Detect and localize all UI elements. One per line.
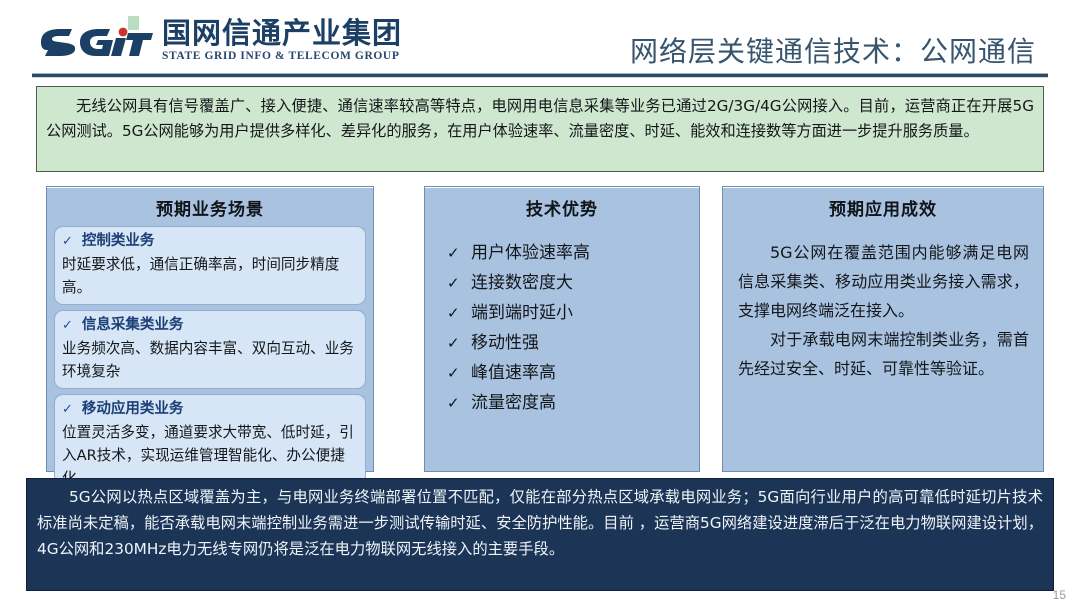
advantage-label: 端到端时延小	[471, 298, 573, 328]
scenario-card-body: 业务频次高、数据内容丰富、双向互动、业务环境复杂	[62, 337, 358, 383]
list-item[interactable]: ✓ 连接数密度大	[447, 268, 699, 298]
check-icon: ✓	[447, 388, 471, 418]
advantage-label: 流量密度高	[471, 388, 556, 418]
scenario-card-head: ✓控制类业务	[62, 230, 358, 253]
panel-title-outcomes: 预期应用成效	[723, 187, 1043, 220]
check-icon: ✓	[62, 318, 73, 333]
panel-technical-advantages: 技术优势 ✓ 用户体验速率高 ✓ 连接数密度大 ✓ 端到端时延小 ✓ 移动性强 …	[424, 186, 700, 472]
intro-summary-box: 无线公网具有信号覆盖广、接入便捷、通信速率较高等特点，电网用电信息采集等业务已通…	[36, 86, 1044, 172]
left-edge-margin	[0, 0, 5, 608]
check-icon: ✓	[447, 358, 471, 388]
advantage-label: 连接数密度大	[471, 268, 573, 298]
check-icon: ✓	[447, 238, 471, 268]
footer-conclusion-box: 5G公网以热点区域覆盖为主，与电网业务终端部署位置不匹配，仅能在部分热点区域承载…	[26, 478, 1054, 591]
sgit-logo-icon	[36, 16, 154, 60]
list-item[interactable]: ✓ 流量密度高	[447, 388, 699, 418]
check-icon: ✓	[447, 298, 471, 328]
check-icon: ✓	[62, 234, 73, 249]
intro-summary-text: 无线公网具有信号覆盖广、接入便捷、通信速率较高等特点，电网用电信息采集等业务已通…	[46, 94, 1034, 144]
panel-expected-scenarios: 预期业务场景 ✓控制类业务 时延要求低，通信正确率高，时间同步精度高。 ✓信息采…	[46, 186, 374, 472]
list-item[interactable]: ✓控制类业务 时延要求低，通信正确率高，时间同步精度高。	[54, 226, 366, 305]
scenario-card-title: 控制类业务	[82, 233, 155, 249]
company-logo: 国网信通产业集团 STATE GRID INFO & TELECOM GROUP	[36, 16, 402, 62]
list-item[interactable]: ✓ 用户体验速率高	[447, 238, 699, 268]
scenario-card-title: 信息采集类业务	[82, 317, 184, 333]
header-divider	[32, 73, 1048, 78]
scenario-card-head: ✓信息采集类业务	[62, 314, 358, 337]
scenario-card-title: 移动应用类业务	[82, 401, 184, 417]
scenario-card-head: ✓移动应用类业务	[62, 398, 358, 421]
list-item[interactable]: ✓信息采集类业务 业务频次高、数据内容丰富、双向互动、业务环境复杂	[54, 310, 366, 389]
check-icon: ✓	[447, 268, 471, 298]
outcome-paragraph-list: 5G公网在覆盖范围内能够满足电网信息采集类、移动应用类业务接入需求，支撑电网终端…	[723, 220, 1043, 383]
advantage-label: 移动性强	[471, 328, 539, 358]
panel-expected-outcomes: 预期应用成效 5G公网在覆盖范围内能够满足电网信息采集类、移动应用类业务接入需求…	[722, 186, 1044, 472]
logo-wordmark: 国网信通产业集团 STATE GRID INFO & TELECOM GROUP	[162, 16, 402, 62]
scenario-card-body: 时延要求低，通信正确率高，时间同步精度高。	[62, 253, 358, 299]
advantage-label: 峰值速率高	[471, 358, 556, 388]
outcome-paragraph: 5G公网在覆盖范围内能够满足电网信息采集类、移动应用类业务接入需求，支撑电网终端…	[738, 238, 1029, 325]
panel-title-scenarios: 预期业务场景	[47, 187, 373, 220]
company-name-cn: 国网信通产业集团	[162, 18, 402, 49]
page-number: 15	[1053, 588, 1066, 602]
scenario-card-list: ✓控制类业务 时延要求低，通信正确率高，时间同步精度高。 ✓信息采集类业务 业务…	[47, 220, 373, 496]
outcome-paragraph: 对于承载电网末端控制类业务，需首先经过安全、时延、可靠性等验证。	[738, 325, 1029, 383]
check-icon: ✓	[62, 402, 73, 417]
company-name-en: STATE GRID INFO & TELECOM GROUP	[162, 50, 402, 62]
advantage-label: 用户体验速率高	[471, 238, 590, 268]
list-item[interactable]: ✓ 峰值速率高	[447, 358, 699, 388]
slide: 国网信通产业集团 STATE GRID INFO & TELECOM GROUP…	[0, 0, 1080, 608]
slide-header: 国网信通产业集团 STATE GRID INFO & TELECOM GROUP…	[0, 0, 1080, 76]
advantage-list: ✓ 用户体验速率高 ✓ 连接数密度大 ✓ 端到端时延小 ✓ 移动性强 ✓ 峰值速…	[425, 220, 699, 418]
check-icon: ✓	[447, 328, 471, 358]
list-item[interactable]: ✓ 移动性强	[447, 328, 699, 358]
list-item[interactable]: ✓ 端到端时延小	[447, 298, 699, 328]
page-title: 网络层关键通信技术：公网通信	[630, 30, 1036, 70]
footer-conclusion-text: 5G公网以热点区域覆盖为主，与电网业务终端部署位置不匹配，仅能在部分热点区域承载…	[37, 484, 1043, 562]
panel-title-advantages: 技术优势	[425, 187, 699, 220]
